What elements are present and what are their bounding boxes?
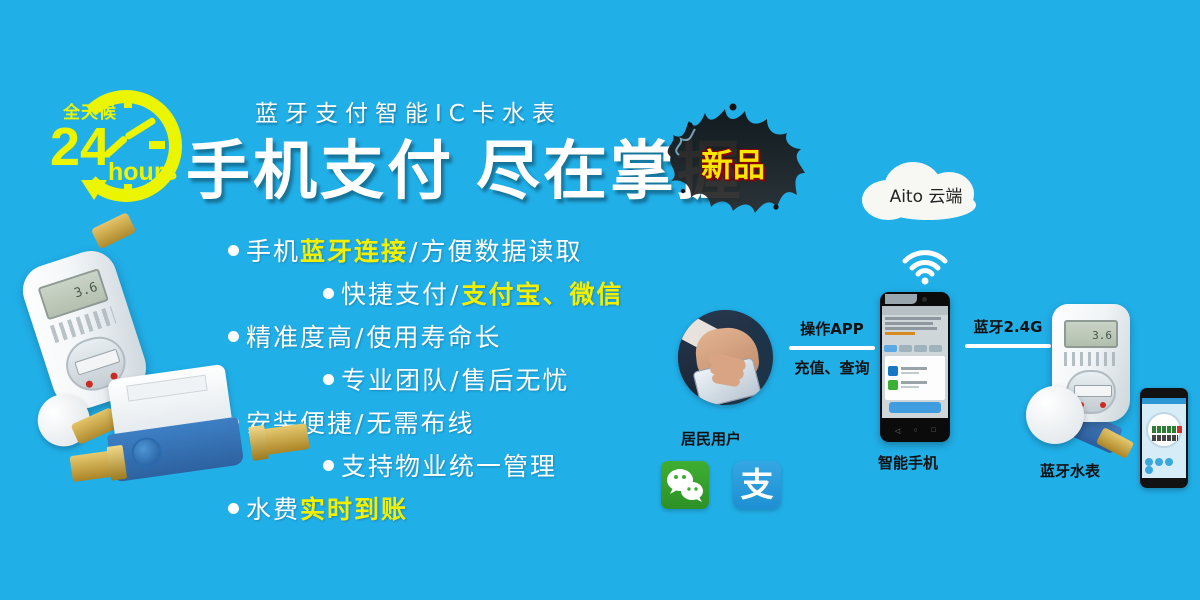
bullet-dot-icon — [228, 503, 239, 514]
bt-meter-indicator-red-2 — [1100, 402, 1106, 408]
bt-meter-keypad — [1064, 352, 1118, 366]
feature-text: 支持物业统一管理 — [341, 447, 557, 483]
new-product-badge: 新品 — [655, 95, 810, 225]
cloud-graphic: Aito 云端 — [862, 160, 990, 222]
caption-resident-user: 居民用户 — [681, 428, 741, 449]
bullet-dot-icon — [228, 331, 239, 342]
alipay-icon: 支 — [733, 461, 781, 509]
badge-24-hours: 全天候 24 hours — [48, 86, 188, 206]
feature-text: 精准度高/使用寿命长 — [246, 318, 501, 354]
badge-24h-number: 24 — [50, 120, 110, 174]
toolbar-icon[interactable] — [1145, 466, 1153, 474]
toolbar-icon[interactable] — [1145, 458, 1153, 466]
alipay-icon — [888, 366, 898, 376]
bt-meter-register — [1074, 385, 1112, 397]
flow-label-app-bottom: 充值、查询 — [782, 357, 882, 378]
payment-option-label — [901, 367, 927, 370]
phone-camera-icon — [922, 297, 927, 302]
phone-screen — [882, 306, 948, 418]
bullet-dot-icon — [323, 288, 334, 299]
valve-meter-label — [126, 375, 207, 402]
app-info-line — [885, 332, 915, 335]
cloud-label: Aito 云端 — [862, 182, 990, 207]
caption-smartphone: 智能手机 — [878, 452, 938, 473]
feature-text: 手机蓝牙连接/方便数据读取 — [246, 232, 582, 268]
app-info-block — [885, 317, 945, 337]
android-navbar: ◁ ○ □ — [882, 426, 948, 436]
meter-reading-digits-green — [1152, 426, 1178, 433]
app-info-line — [885, 327, 937, 330]
headline-title-part1: 手机支付 — [186, 135, 454, 209]
back-icon[interactable]: ◁ — [894, 427, 901, 434]
payment-method-card — [885, 356, 945, 400]
toolbar-icon[interactable] — [1155, 458, 1163, 466]
app-tab-button[interactable] — [884, 345, 897, 352]
feature-text: 水费实时到账 — [246, 490, 408, 526]
list-item: 快捷支付/支付宝、微信 — [228, 275, 688, 311]
caption-bluetooth-meter: 蓝牙水表 — [1040, 460, 1100, 481]
new-product-label: 新品 — [681, 140, 785, 186]
wifi-icon — [900, 248, 950, 286]
bluetooth-water-meter-photo: 3.6 — [1028, 300, 1148, 460]
bt-meter-cap — [1026, 386, 1084, 444]
payment-option-alipay[interactable] — [888, 366, 942, 377]
app-titlebar — [882, 306, 948, 315]
recents-icon[interactable]: □ — [930, 427, 937, 434]
meter-reading-dial — [1146, 412, 1182, 448]
phone-earpiece — [885, 294, 917, 304]
bullet-dot-icon — [323, 374, 334, 385]
bullet-dot-icon — [228, 245, 239, 256]
clock-tick-top — [124, 92, 132, 108]
list-item: 手机蓝牙连接/方便数据读取 — [228, 232, 688, 268]
bt-meter-logo — [1064, 310, 1118, 317]
secondary-phone-screen — [1142, 398, 1186, 478]
app-tab-button[interactable] — [914, 345, 927, 352]
app-tab-button[interactable] — [929, 345, 942, 352]
feature-text: 快捷支付/支付宝、微信 — [341, 275, 623, 311]
bt-meter-lcd-value: 3.6 — [1092, 329, 1112, 342]
feature-text: 专业团队/售后无忧 — [341, 361, 569, 397]
meter-reading-digits-black — [1152, 435, 1178, 441]
payment-option-label — [901, 381, 927, 384]
home-icon[interactable]: ○ — [912, 427, 919, 434]
secondary-app-titlebar — [1142, 398, 1186, 404]
resident-user-photo — [678, 310, 773, 405]
app-info-line — [885, 322, 933, 325]
flow-label-app-top: 操作APP — [782, 318, 882, 339]
payment-option-sublabel — [901, 372, 919, 374]
meter-reading-digit-red — [1178, 426, 1182, 433]
list-item: 专业团队/售后无忧 — [228, 361, 688, 397]
wechat-pay-icon — [888, 380, 898, 390]
list-item: 精准度高/使用寿命长 — [228, 318, 688, 354]
promo-banner: 全天候 24 hours 蓝牙支付智能IC卡水表 手机支付尽在掌握 新品 手机 — [0, 0, 1200, 600]
meter-pipe-top — [91, 212, 137, 249]
wechat-pay-icon — [661, 461, 709, 509]
clock-tick-right — [149, 141, 165, 149]
meter-lcd-value: 3.6 — [73, 280, 100, 302]
confirm-pay-button[interactable] — [889, 402, 941, 413]
clock-arrow-icon — [81, 180, 107, 200]
toolbar-icon[interactable] — [1165, 458, 1173, 466]
payment-option-wechat[interactable] — [888, 380, 942, 391]
bullet-dot-icon — [323, 460, 334, 471]
flow-label-app: 操作APP 充值、查询 — [782, 318, 882, 378]
app-info-line — [885, 317, 941, 320]
secondary-smartphone-device — [1140, 388, 1188, 488]
list-item: 水费实时到账 — [228, 490, 688, 526]
app-tab-button[interactable] — [899, 345, 912, 352]
flow-connector-line — [789, 346, 875, 350]
badge-24h-unit: hours — [108, 158, 177, 187]
bt-meter-lcd-screen: 3.6 — [1064, 320, 1118, 348]
smartphone-device: ◁ ○ □ — [880, 292, 950, 442]
alipay-glyph: 支 — [733, 461, 781, 509]
secondary-app-toolbar[interactable] — [1145, 458, 1183, 468]
app-button-row[interactable] — [884, 345, 946, 352]
bt-meter-pipe — [1096, 427, 1134, 459]
payment-option-sublabel — [901, 386, 919, 388]
